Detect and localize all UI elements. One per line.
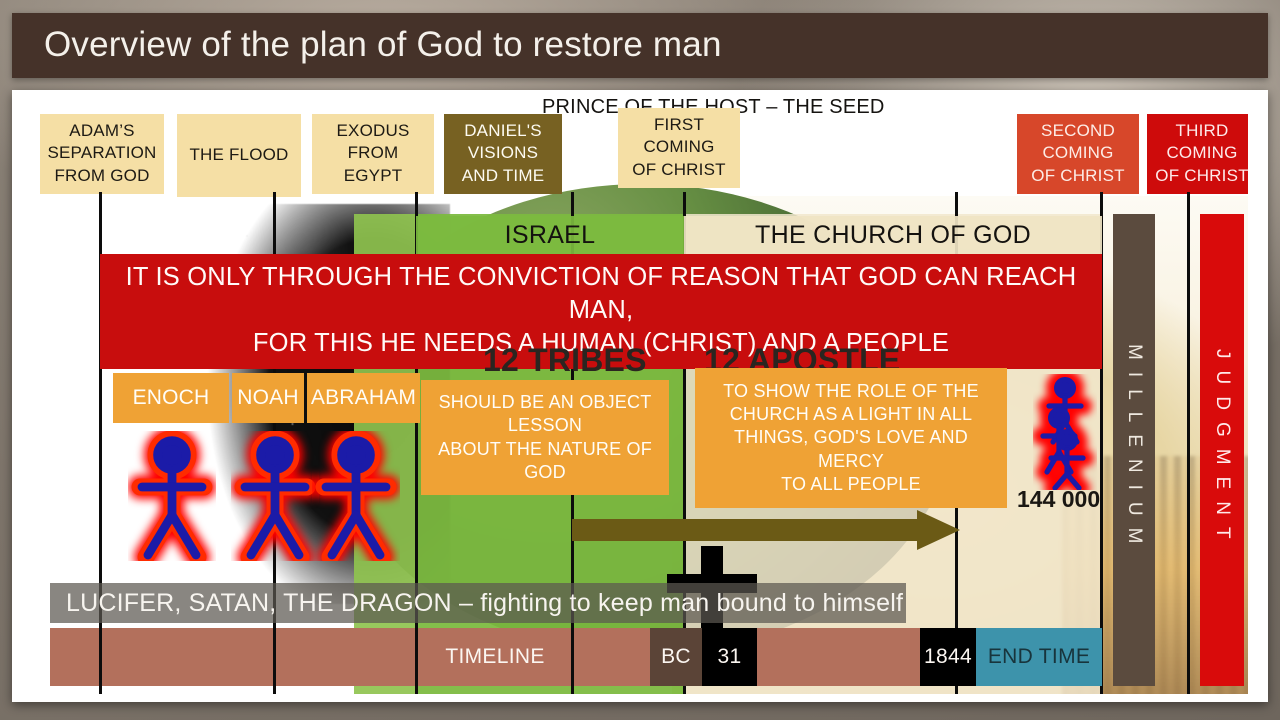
plan-of-god-chart: PRINCE OF THE HOST – THE SEED ADAM’S SEP… bbox=[32, 96, 1248, 694]
timeline-segment-31: 31 bbox=[702, 628, 757, 686]
patriarch-box-noah-label: NOAH bbox=[237, 384, 298, 411]
event-card-daniels-visions-label: DANIEL'S VISIONS AND TIME bbox=[448, 120, 558, 187]
mission-arrow-icon bbox=[572, 510, 960, 555]
timeline-bar: TIMELINE BC 31 1844 END TIME bbox=[50, 628, 1102, 686]
event-card-third-coming-label: THIRD COMING OF CHRIST bbox=[1151, 120, 1248, 187]
tribes-description-box[interactable]: SHOULD BE AN OBJECT LESSON ABOUT THE NAT… bbox=[421, 380, 669, 495]
timeline-segment-bc: BC bbox=[650, 628, 702, 686]
event-card-the-flood[interactable]: THE FLOOD bbox=[177, 114, 301, 197]
event-card-third-coming[interactable]: THIRD COMING OF CHRIST bbox=[1147, 114, 1248, 194]
heading-12-tribes: 12 TRIBES bbox=[483, 342, 647, 379]
timeline-label: TIMELINE bbox=[420, 628, 570, 686]
lucifer-strip: LUCIFER, SATAN, THE DRAGON – fighting to… bbox=[50, 583, 906, 623]
event-card-second-coming[interactable]: SECOND COMING OF CHRIST bbox=[1017, 114, 1139, 194]
event-card-the-flood-label: THE FLOOD bbox=[181, 144, 297, 166]
era-band-israel: ISRAEL bbox=[416, 216, 684, 254]
remnant-count-label: 144 000 bbox=[1017, 486, 1100, 513]
timeline-tick-adam bbox=[99, 628, 102, 686]
pillar-millenium-label: MILLENIUM bbox=[1123, 344, 1145, 555]
divider-line-third-coming bbox=[1187, 192, 1190, 694]
timeline-segment-1844: 1844 bbox=[920, 628, 976, 686]
stick-figure-abraham bbox=[312, 431, 400, 561]
timeline-segment-end-time: END TIME bbox=[976, 628, 1102, 686]
era-band-israel-label: ISRAEL bbox=[505, 221, 596, 250]
pillar-judgment: JUDGMENT bbox=[1200, 214, 1244, 686]
patriarch-box-abraham[interactable]: ABRAHAM bbox=[307, 373, 420, 423]
event-card-adams-separation-label: ADAM’S SEPARATION FROM GOD bbox=[44, 120, 160, 187]
event-card-first-coming-label: FIRST COMING OF CHRIST bbox=[622, 114, 736, 181]
tribes-description-text: SHOULD BE AN OBJECT LESSON ABOUT THE NAT… bbox=[429, 391, 661, 485]
patriarch-box-abraham-label: ABRAHAM bbox=[311, 384, 416, 411]
pillar-judgment-label: JUDGMENT bbox=[1211, 349, 1233, 551]
statement-banner-line1: IT IS ONLY THROUGH THE CONVICTION OF REA… bbox=[110, 261, 1092, 327]
stick-figures-remnant bbox=[1033, 374, 1097, 490]
apostle-description-box[interactable]: TO SHOW THE ROLE OF THE CHURCH AS A LIGH… bbox=[695, 368, 1007, 508]
patriarch-box-enoch-label: ENOCH bbox=[133, 384, 210, 411]
event-card-exodus-from-egypt[interactable]: EXODUS FROM EGYPT bbox=[312, 114, 434, 194]
slide-canvas: PRINCE OF THE HOST – THE SEED ADAM’S SEP… bbox=[12, 90, 1268, 702]
patriarch-box-noah[interactable]: NOAH bbox=[232, 373, 304, 423]
title-bar: Overview of the plan of God to restore m… bbox=[12, 13, 1268, 78]
timeline-tick-flood bbox=[273, 628, 276, 686]
event-card-daniels-visions[interactable]: DANIEL'S VISIONS AND TIME bbox=[444, 114, 562, 194]
event-card-exodus-from-egypt-label: EXODUS FROM EGYPT bbox=[316, 120, 430, 187]
stick-figure-enoch bbox=[128, 431, 216, 561]
era-band-church-label: THE CHURCH OF GOD bbox=[755, 221, 1031, 250]
timeline-tick-exodus bbox=[415, 628, 418, 686]
apostle-description-text: TO SHOW THE ROLE OF THE CHURCH AS A LIGH… bbox=[703, 380, 999, 497]
event-card-adams-separation[interactable]: ADAM’S SEPARATION FROM GOD bbox=[40, 114, 164, 194]
event-card-second-coming-label: SECOND COMING OF CHRIST bbox=[1021, 120, 1135, 187]
timeline-tick-daniel bbox=[571, 628, 574, 686]
lucifer-strip-label: LUCIFER, SATAN, THE DRAGON – fighting to… bbox=[66, 589, 903, 618]
stick-figure-noah bbox=[231, 431, 319, 561]
event-card-first-coming[interactable]: FIRST COMING OF CHRIST bbox=[618, 108, 740, 188]
patriarch-box-enoch[interactable]: ENOCH bbox=[113, 373, 229, 423]
page-title: Overview of the plan of God to restore m… bbox=[44, 25, 722, 65]
era-band-church: THE CHURCH OF GOD bbox=[684, 216, 1102, 254]
pillar-millenium: MILLENIUM bbox=[1113, 214, 1155, 686]
